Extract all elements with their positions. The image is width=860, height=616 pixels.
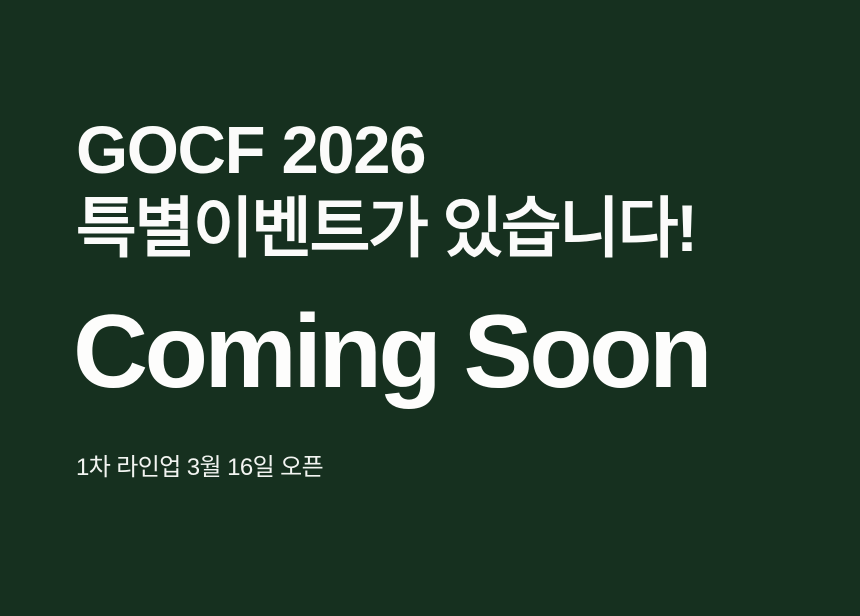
headline-line-event-title: GOCF 2026 (76, 112, 816, 190)
lineup-open-date-note: 1차 라인업 3월 16일 오픈 (76, 452, 323, 483)
headline-block: GOCF 2026 특별이벤트가 있습니다! (76, 112, 816, 266)
headline-line-event-subtitle: 특별이벤트가 있습니다! (76, 190, 816, 267)
promo-banner: GOCF 2026 특별이벤트가 있습니다! Coming Soon 1차 라인… (0, 0, 860, 616)
coming-soon-headline: Coming Soon (73, 300, 709, 404)
promo-content: GOCF 2026 특별이벤트가 있습니다! Coming Soon 1차 라인… (76, 0, 816, 616)
